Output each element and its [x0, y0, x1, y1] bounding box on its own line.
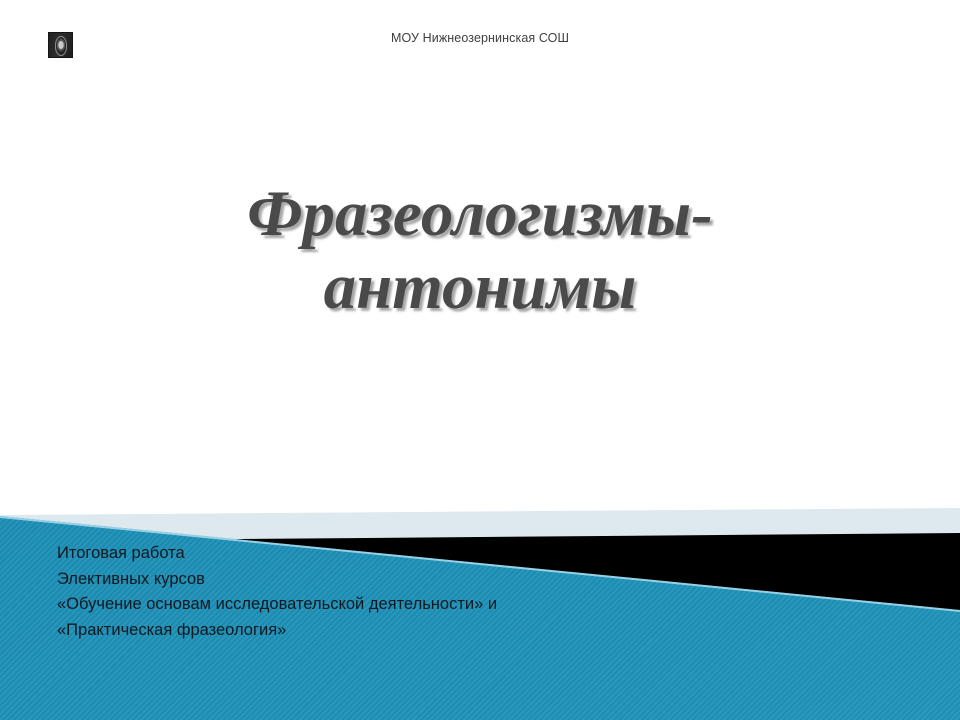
subtitle-line: «Практическая фразеология» [57, 618, 697, 644]
organization-header: МОУ Нижнеозернинская СОШ [0, 31, 960, 46]
presentation-slide: МОУ Нижнеозернинская СОШ Фразеологизмы- … [0, 0, 960, 720]
subtitle-line: «Обучение основам исследовательской деят… [57, 592, 697, 618]
subtitle-line: Итоговая работа [57, 541, 697, 567]
subtitle-line: Элективных курсов [57, 567, 697, 593]
subtitle-block: Итоговая работа Элективных курсов «Обуче… [57, 541, 697, 643]
slide-title: Фразеологизмы- антонимы [70, 178, 890, 324]
